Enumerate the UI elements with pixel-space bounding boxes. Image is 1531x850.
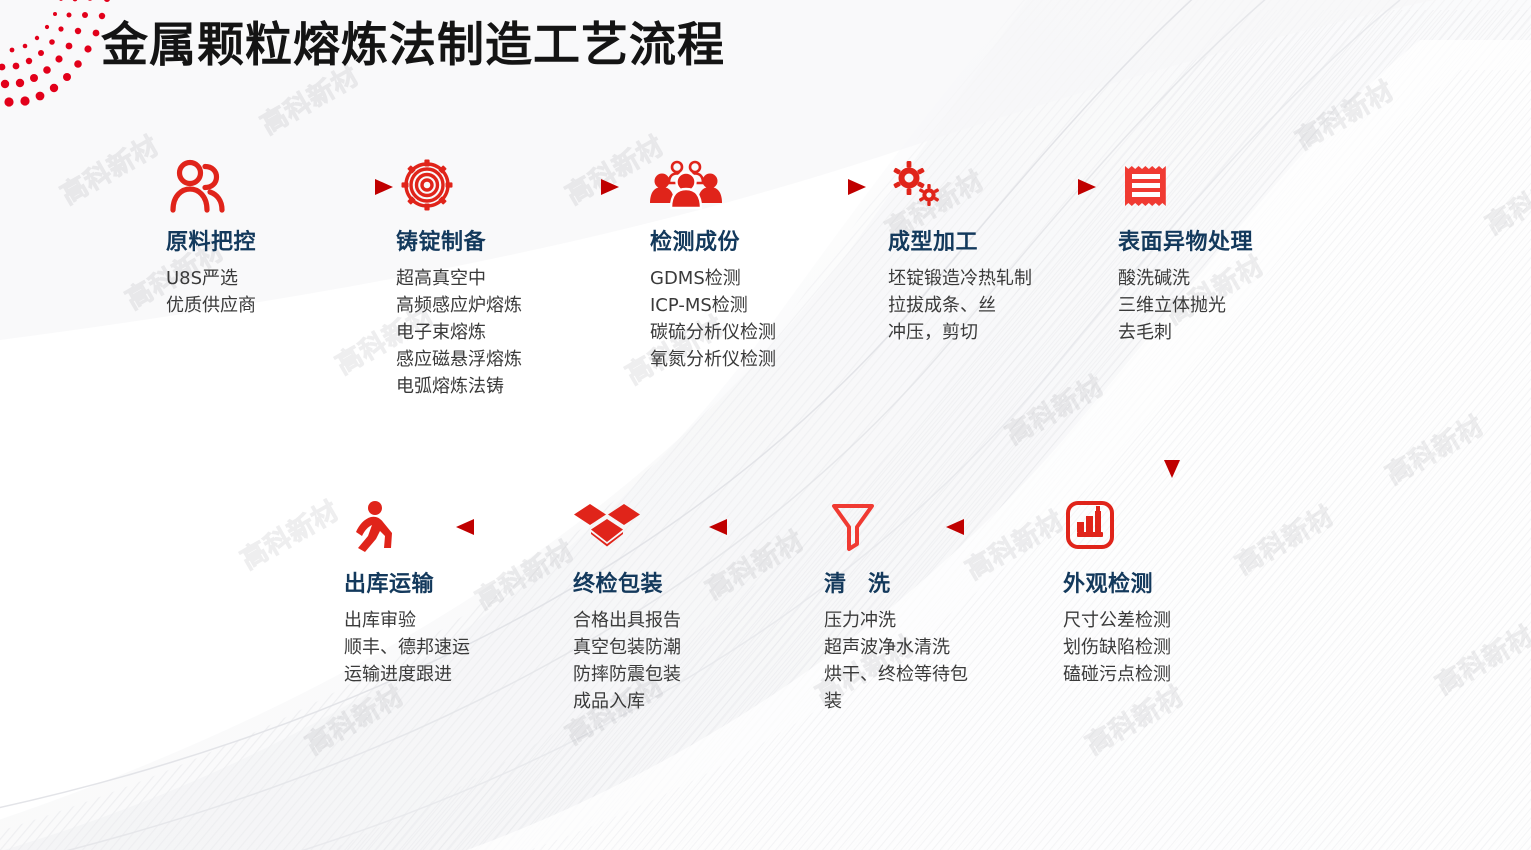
- step-appearance-inspection[interactable]: 外观检测 尺寸公差检测 划伤缺陷检测 磕碰污点检测: [1063, 500, 1171, 688]
- step-detail-list: U8S严选 优质供应商: [166, 265, 256, 319]
- step-raw-material-control[interactable]: 原料把控 U8S严选 优质供应商: [166, 158, 256, 319]
- list-item: 酸洗碱洗: [1118, 265, 1253, 292]
- list-item: 去毛刺: [1118, 319, 1253, 346]
- two-users-icon: [166, 158, 256, 216]
- list-item: ICP-MS检测: [650, 292, 776, 319]
- document-stamp-icon: [1118, 158, 1253, 216]
- arrow-5-to-6: [1157, 380, 1187, 480]
- step-title: 清洗: [824, 566, 999, 598]
- list-item: 超声波净水清洗: [824, 634, 999, 661]
- process-flow-diagram: 原料把控 U8S严选 优质供应商: [0, 0, 1531, 850]
- step-detail-list: 出库审验 顺丰、德邦速运 运输进度跟进: [344, 607, 470, 688]
- step-detail-list: 坯锭锻造冷热轧制 拉拔成条、丝 冲压，剪切: [888, 265, 1032, 346]
- arrow-4-to-5: [992, 172, 1102, 202]
- gear-target-icon: [396, 158, 522, 216]
- step-detail-list: 超高真空中 高频感应炉熔炼 电子束熔炼 感应磁悬浮熔炼 电弧熔炼法铸: [396, 265, 522, 400]
- step-detail-list: 合格出具报告 真空包装防潮 防摔防震包装 成品入库: [573, 607, 681, 715]
- list-item: 运输进度跟进: [344, 661, 470, 688]
- factory-badge-icon: [1063, 500, 1171, 558]
- arrow-3-to-4: [762, 172, 872, 202]
- step-detail-list: 酸洗碱洗 三维立体抛光 去毛刺: [1118, 265, 1253, 346]
- list-item: 高频感应炉熔炼: [396, 292, 522, 319]
- open-box-icon: [573, 500, 681, 558]
- arrow-6-to-7: [940, 512, 1050, 542]
- list-item: 合格出具报告: [573, 607, 681, 634]
- list-item: 冲压，剪切: [888, 319, 1032, 346]
- list-item: 磕碰污点检测: [1063, 661, 1171, 688]
- step-title: 出库运输: [344, 566, 470, 598]
- list-item: 烘干、终检等待包装: [824, 661, 972, 715]
- list-item: GDMS检测: [650, 265, 776, 292]
- list-item: 氧氮分析仪检测: [650, 346, 776, 373]
- step-final-inspection-packaging[interactable]: 终检包装 合格出具报告 真空包装防潮 防摔防震包装 成品入库: [573, 500, 681, 715]
- people-group-icon: [650, 158, 776, 216]
- list-item: 碳硫分析仪检测: [650, 319, 776, 346]
- arrow-8-to-9: [450, 512, 560, 542]
- arrow-2-to-3: [515, 172, 625, 202]
- step-title: 外观检测: [1063, 566, 1171, 598]
- list-item: 顺丰、德邦速运: [344, 634, 470, 661]
- list-item: 电弧熔炼法铸: [396, 373, 522, 400]
- step-composition-testing[interactable]: 检测成份 GDMS检测 ICP-MS检测 碳硫分析仪检测 氧氮分析仪检测: [650, 158, 776, 373]
- list-item: 拉拔成条、丝: [888, 292, 1032, 319]
- list-item: 感应磁悬浮熔炼: [396, 346, 522, 373]
- step-detail-list: 尺寸公差检测 划伤缺陷检测 磕碰污点检测: [1063, 607, 1171, 688]
- list-item: 三维立体抛光: [1118, 292, 1253, 319]
- list-item: 真空包装防潮: [573, 634, 681, 661]
- list-item: 坯锭锻造冷热轧制: [888, 265, 1032, 292]
- step-detail-list: GDMS检测 ICP-MS检测 碳硫分析仪检测 氧氮分析仪检测: [650, 265, 776, 373]
- list-item: 电子束熔炼: [396, 319, 522, 346]
- step-title: 终检包装: [573, 566, 681, 598]
- step-ingot-preparation[interactable]: 铸锭制备 超高真空中 高频感应炉熔炼 电子束熔炼 感应磁悬浮熔炼 电弧熔炼法铸: [396, 158, 522, 400]
- step-title: 铸锭制备: [396, 224, 522, 256]
- list-item: 压力冲洗: [824, 607, 999, 634]
- list-item: 优质供应商: [166, 292, 256, 319]
- list-item: 尺寸公差检测: [1063, 607, 1171, 634]
- arrow-1-to-2: [289, 172, 399, 202]
- step-surface-treatment[interactable]: 表面异物处理 酸洗碱洗 三维立体抛光 去毛刺: [1118, 158, 1253, 346]
- step-title: 成型加工: [888, 224, 1032, 256]
- list-item: U8S严选: [166, 265, 256, 292]
- list-item: 防摔防震包装: [573, 661, 681, 688]
- step-title: 检测成份: [650, 224, 776, 256]
- page-title: 金属颗粒熔炼法制造工艺流程: [101, 6, 725, 75]
- step-title: 原料把控: [166, 224, 256, 256]
- list-item: 出库审验: [344, 607, 470, 634]
- step-title: 表面异物处理: [1118, 224, 1253, 256]
- arrow-7-to-8: [703, 512, 813, 542]
- list-item: 成品入库: [573, 688, 681, 715]
- list-item: 超高真空中: [396, 265, 522, 292]
- list-item: 划伤缺陷检测: [1063, 634, 1171, 661]
- step-detail-list: 压力冲洗 超声波净水清洗 烘干、终检等待包装: [824, 607, 999, 715]
